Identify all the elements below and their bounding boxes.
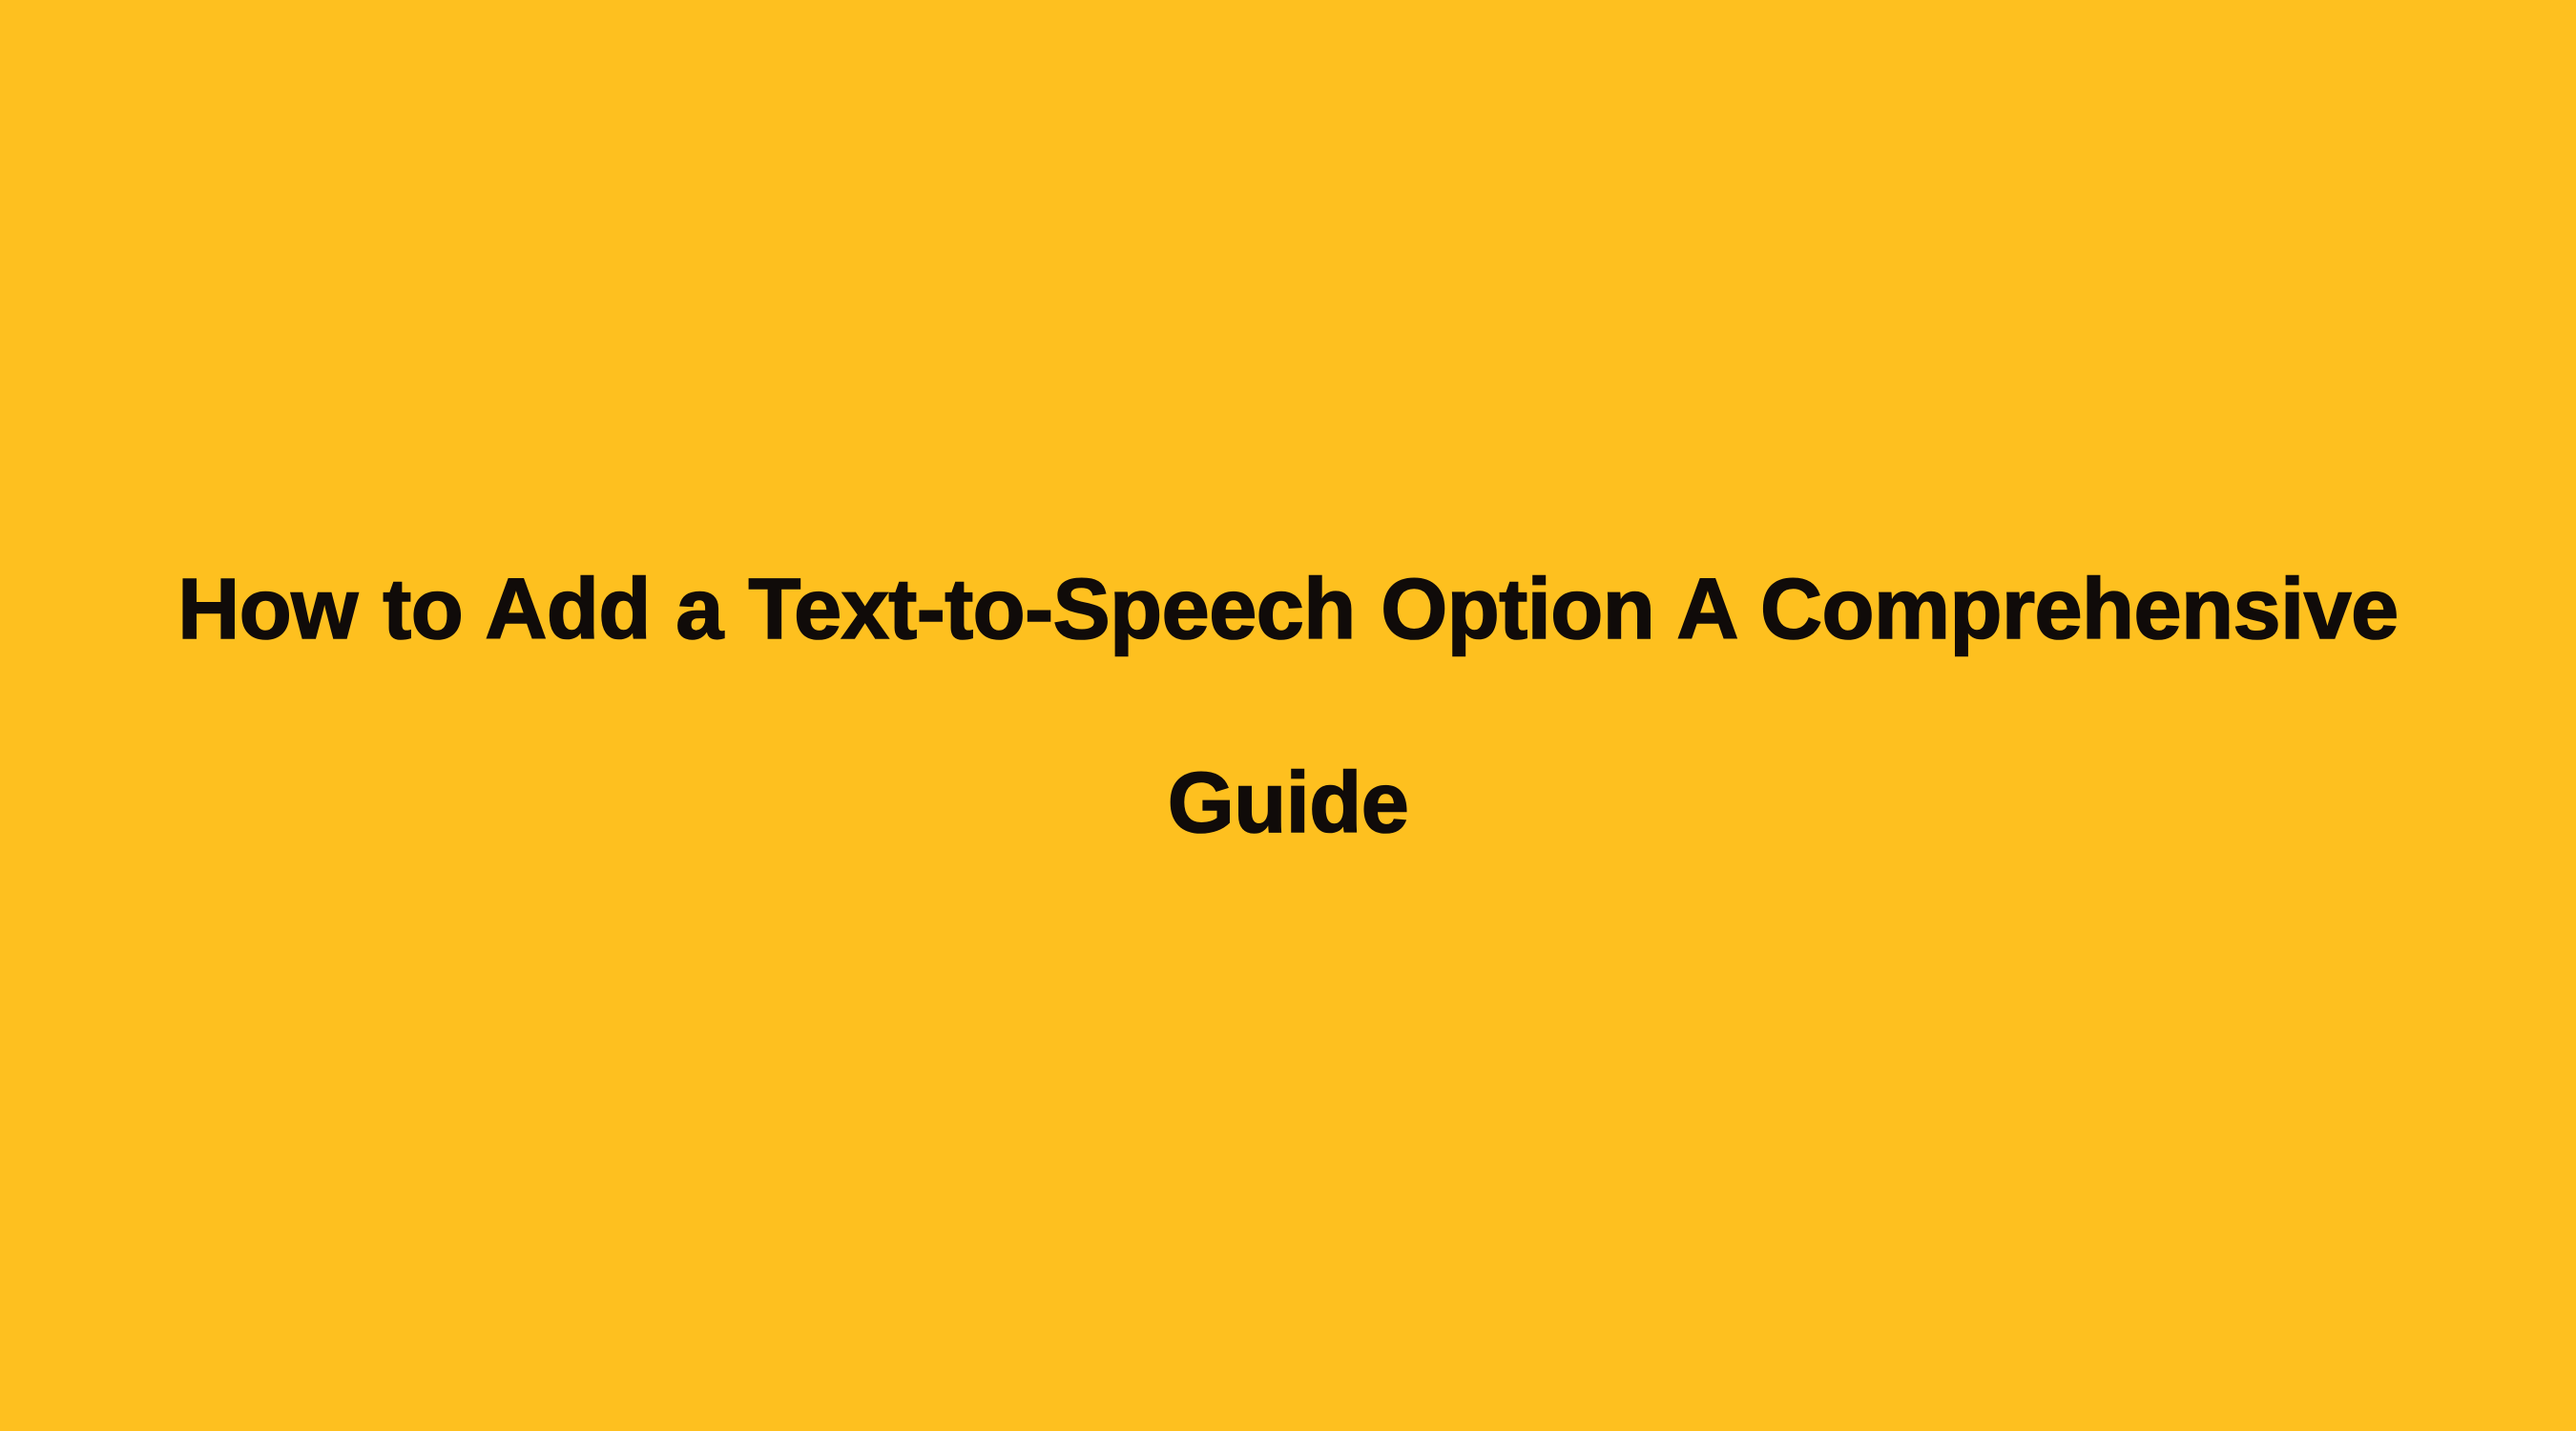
title-card: How to Add a Text-to-Speech Option A Com… xyxy=(0,0,2576,1431)
page-title: How to Add a Text-to-Speech Option A Com… xyxy=(122,513,2454,902)
heading-block: How to Add a Text-to-Speech Option A Com… xyxy=(0,513,2576,902)
